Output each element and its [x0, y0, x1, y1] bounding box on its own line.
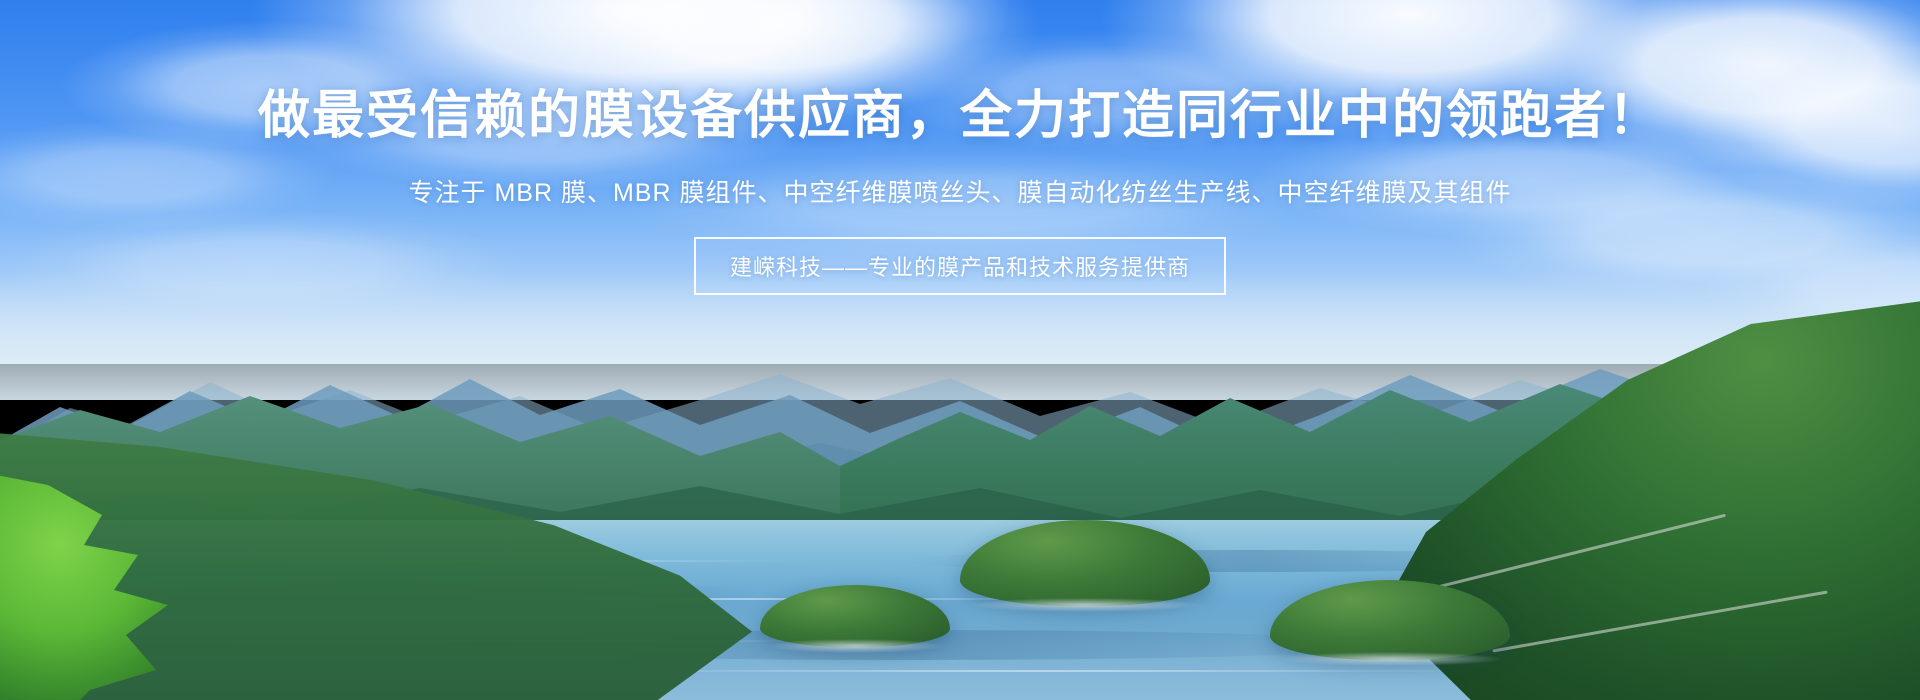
mountain-road — [1434, 514, 1726, 589]
hero-subtitle: 专注于 MBR 膜、MBR 膜组件、中空纤维膜喷丝头、膜自动化纺丝生产线、中空纤… — [0, 173, 1920, 209]
mountain-road — [1492, 591, 1827, 653]
hero-tagline-box: 建嵘科技——专业的膜产品和技术服务提供商 — [694, 237, 1226, 295]
hero-tagline-wrapper: 建嵘科技——专业的膜产品和技术服务提供商 — [0, 237, 1920, 295]
hero-banner: 做最受信赖的膜设备供应商，全力打造同行业中的领跑者！ 专注于 MBR 膜、MBR… — [0, 0, 1920, 700]
hero-text-block: 做最受信赖的膜设备供应商，全力打造同行业中的领跑者！ 专注于 MBR 膜、MBR… — [0, 88, 1920, 295]
hero-headline: 做最受信赖的膜设备供应商，全力打造同行业中的领跑者！ — [0, 88, 1920, 145]
